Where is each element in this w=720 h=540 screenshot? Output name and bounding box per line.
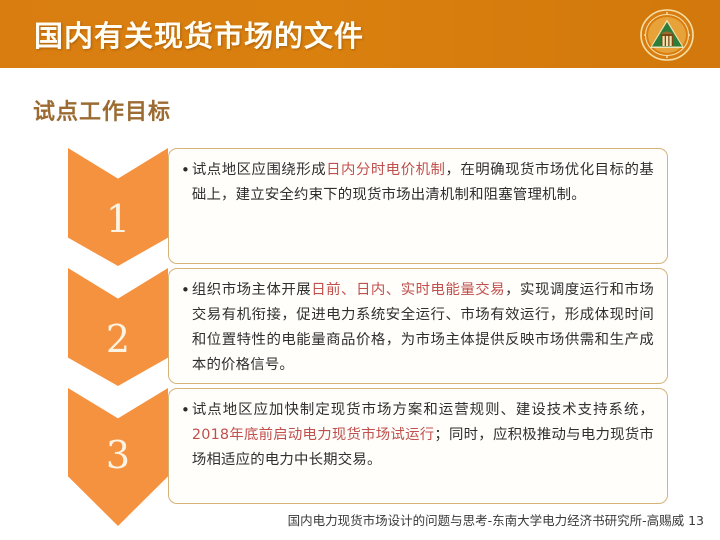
step-text-2: 组织市场主体开展日前、日内、实时电能量交易，实现调度运行和市场交易有机衔接，促进… <box>192 278 654 378</box>
text-segment: 试点地区应围绕形成 <box>192 162 326 178</box>
step-content-1: • 试点地区应围绕形成日内分时电价机制，在明确现货市场优化目标的基础上，建立安全… <box>168 148 668 264</box>
step-text-1: 试点地区应围绕形成日内分时电价机制，在明确现货市场优化目标的基础上，建立安全约束… <box>192 158 654 208</box>
footer-text: 国内电力现货市场设计的问题与思考-东南大学电力经济书研究所-高赐威 13 <box>0 510 704 529</box>
step-content-2: • 组织市场主体开展日前、日内、实时电能量交易，实现调度运行和市场交易有机衔接，… <box>168 268 668 384</box>
text-segment: 组织市场主体开展 <box>192 282 311 298</box>
page-title: 国内有关现货市场的文件 <box>34 13 364 55</box>
bullet-icon: • <box>181 398 190 423</box>
step-text-3: 试点地区应加快制定现货市场方案和运营规则、建设技术支持系统，2018年底前启动电… <box>192 398 654 473</box>
step-marker-2: 2 <box>68 268 168 386</box>
highlight-segment: 日内分时电价机制 <box>326 162 445 178</box>
highlight-segment: 日前、日内、实时电能量交易 <box>311 282 505 298</box>
step-number-1: 1 <box>68 200 168 238</box>
southeast-university-seal-icon <box>639 8 695 62</box>
step-marker-3: 3 <box>68 388 168 526</box>
step-content-3: • 试点地区应加快制定现货市场方案和运营规则、建设技术支持系统，2018年底前启… <box>168 388 668 504</box>
text-segment: 试点地区应加快制定现货市场方案和运营规则、建设技术支持系统， <box>192 402 654 418</box>
step-number-3: 3 <box>68 436 168 474</box>
step-number-2: 2 <box>68 320 168 358</box>
bullet-icon: • <box>181 278 190 303</box>
step-marker-1: 1 <box>68 148 168 266</box>
bullet-icon: • <box>181 158 190 183</box>
header-bar: 国内有关现货市场的文件 <box>0 0 720 68</box>
highlight-segment: 2018年底前启动电力现货市场试运行 <box>192 427 435 443</box>
section-title: 试点工作目标 <box>33 94 171 126</box>
